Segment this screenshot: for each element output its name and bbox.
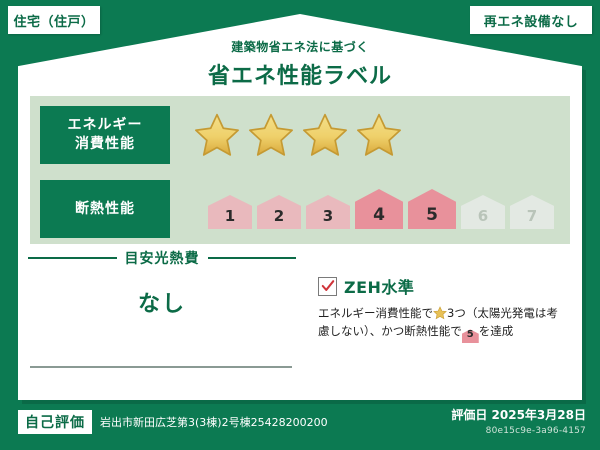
energy-label-line1: エネルギー xyxy=(68,116,143,135)
title-main: 省エネ性能ラベル xyxy=(0,58,600,90)
evaluation-date: 評価日 2025年3月28日 xyxy=(451,406,586,423)
insulation-grade-2: 2 xyxy=(257,195,301,229)
zeh-block: ZEH水準 エネルギー消費性能で3つ（太陽光発電は考慮しない）、かつ断熱性能で5… xyxy=(318,274,568,343)
energy-performance-value xyxy=(170,112,402,158)
star-icon xyxy=(194,112,240,158)
cost-underline xyxy=(30,366,292,368)
energy-performance-row: エネルギー 消費性能 xyxy=(40,106,402,164)
zeh-title: ZEH水準 xyxy=(344,274,414,298)
zeh-description: エネルギー消費性能で3つ（太陽光発電は考慮しない）、かつ断熱性能で5を達成 xyxy=(318,305,568,343)
energy-label-root: 住宅（住戸） 再エネ設備なし 建築物省エネ法に基づく 省エネ性能ラベル エネルギ… xyxy=(0,0,600,450)
insulation-grade-7: 7 xyxy=(510,195,554,229)
title-subtitle: 建築物省エネ法に基づく xyxy=(0,38,600,55)
star-icon xyxy=(302,112,348,158)
insulation-grade-5: 5 xyxy=(408,189,456,229)
insulation-grade-1: 1 xyxy=(208,195,252,229)
building-type-tag: 住宅（住戸） xyxy=(8,6,100,34)
star-icon xyxy=(356,112,402,158)
footer-right: 評価日 2025年3月28日 80e15c9e-3a96-4157 xyxy=(451,406,586,436)
evaluation-id: 80e15c9e-3a96-4157 xyxy=(451,426,586,436)
star-icon xyxy=(248,112,294,158)
cost-rule-left xyxy=(28,257,117,259)
insulation-performance-value: 1234567 xyxy=(170,189,554,229)
check-icon xyxy=(321,279,335,293)
energy-label-line2: 消費性能 xyxy=(75,135,135,154)
insulation-grade-6: 6 xyxy=(461,195,505,229)
zeh-header: ZEH水準 xyxy=(318,274,568,298)
renewable-equipment-tag: 再エネ設備なし xyxy=(470,6,592,34)
energy-performance-label: エネルギー 消費性能 xyxy=(40,106,170,164)
utility-cost-header: 目安光熱費 xyxy=(28,248,296,268)
insulation-grade-4: 4 xyxy=(355,189,403,229)
utility-cost-value: なし xyxy=(28,286,296,318)
utility-cost-title: 目安光熱費 xyxy=(125,248,200,268)
insulation-label-text: 断熱性能 xyxy=(75,200,135,219)
insulation-performance-label: 断熱性能 xyxy=(40,180,170,238)
page-title: 建築物省エネ法に基づく 省エネ性能ラベル xyxy=(0,38,600,90)
insulation-grade-3: 3 xyxy=(306,195,350,229)
star-icon xyxy=(433,306,447,320)
zeh-desc-part1: エネルギー消費性能で xyxy=(318,306,433,320)
performance-panel: エネルギー 消費性能 断熱性能 1234567 xyxy=(30,96,570,244)
insulation-performance-row: 断熱性能 1234567 xyxy=(40,180,554,238)
zeh-desc-part3: を達成 xyxy=(479,324,514,338)
self-evaluation-badge: 自己評価 xyxy=(18,410,92,434)
zeh-desc-grade-badge: 5 xyxy=(462,329,479,343)
footer-left: 自己評価 岩出市新田広芝第3(3棟)2号棟25428200200 xyxy=(18,410,328,434)
property-address: 岩出市新田広芝第3(3棟)2号棟25428200200 xyxy=(100,414,328,430)
insulation-grade-scale: 1234567 xyxy=(194,189,554,229)
cost-rule-right xyxy=(208,257,297,259)
zeh-checkbox[interactable] xyxy=(318,277,337,296)
star-rating xyxy=(194,112,402,158)
